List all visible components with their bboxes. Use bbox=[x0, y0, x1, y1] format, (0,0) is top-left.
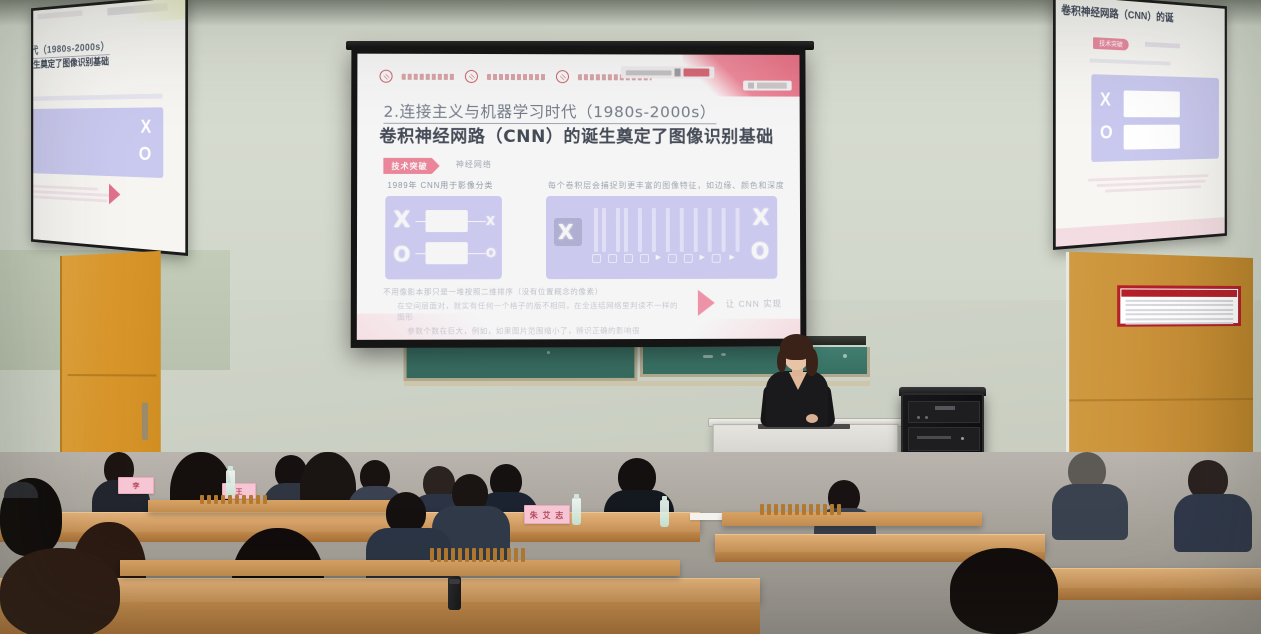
side-screen-right: 卷积神经网路（CNN）的诞 技术突破 X O X bbox=[1053, 0, 1227, 250]
rack-unit-amplifier bbox=[908, 401, 980, 423]
university-name-1 bbox=[402, 73, 456, 79]
slide-tech-chip-label: 神经网络 bbox=[456, 159, 492, 170]
thermos-flask bbox=[448, 576, 461, 610]
bench-slats-right-1 bbox=[760, 504, 841, 515]
side-right-panel-right: X bbox=[1225, 78, 1227, 158]
slide-caption-right: 每个卷积层会捕捉到更丰富的图像特征，如边缘、颜色和深度 bbox=[548, 180, 785, 191]
schedule-poster bbox=[1117, 285, 1241, 327]
symbol-x-output: X bbox=[752, 206, 769, 231]
cap-icon bbox=[4, 482, 38, 498]
slide-logo-row bbox=[380, 70, 652, 84]
slide-diagram-panel-right: X ► ► bbox=[546, 196, 777, 279]
bench-row-front bbox=[120, 560, 680, 576]
slide-diagram-panel-left: X O X O bbox=[385, 196, 502, 279]
slide-corner-accent-bottom-right bbox=[681, 319, 800, 339]
water-bottle-1 bbox=[226, 470, 235, 497]
slide-title-line1: 2.连接主义与机器学习时代（1980s-2000s） bbox=[383, 100, 715, 125]
presentation-slide: 2.连接主义与机器学习时代（1980s-2000s） 卷积神经网路（CNN）的诞… bbox=[357, 54, 801, 340]
slide-bullet-block: 不用像影本那只是一堆按照二维排序（没有位置概念的像素） 在空间层面对，就实有任何… bbox=[383, 286, 684, 337]
slide-caption-left: 1989年 CNN用于影像分类 bbox=[387, 180, 493, 191]
symbol-o-output: O bbox=[751, 240, 770, 265]
slide-badge-top-right bbox=[621, 66, 715, 78]
chalkboard-panel-2 bbox=[640, 347, 870, 377]
door-handle-left[interactable] bbox=[142, 402, 148, 440]
name-card-1: 李 bbox=[118, 477, 154, 494]
side-screen-left: 代（1980s-2000s） 诞生奠定了图像识别基础 X O bbox=[31, 0, 188, 256]
university-name-2 bbox=[487, 73, 547, 79]
slide-badge-top-right-2 bbox=[743, 81, 792, 91]
water-bottle-3 bbox=[660, 500, 669, 527]
projection-screen: 2.连接主义与机器学习时代（1980s-2000s） 卷积神经网路（CNN）的诞… bbox=[351, 47, 807, 348]
slide-arrow-caption: 让 CNN 实现 bbox=[726, 298, 782, 310]
name-card-3: 朱 艾 志 bbox=[524, 505, 570, 524]
symbol-o-left: O bbox=[393, 242, 410, 266]
classroom-door-left[interactable] bbox=[60, 251, 161, 476]
cnn-input-image: X bbox=[554, 218, 582, 246]
rack-unit-2 bbox=[908, 427, 980, 451]
symbol-x-left: X bbox=[393, 208, 410, 233]
slide-bullet-lead: 不用像影本那只是一堆按照二维排序（没有位置概念的像素） bbox=[383, 286, 684, 298]
side-right-title: 卷积神经网路（CNN）的诞 bbox=[1061, 2, 1173, 25]
bench-row-1a bbox=[148, 500, 398, 512]
diagram-box-1 bbox=[426, 210, 468, 232]
paper-1 bbox=[690, 513, 724, 520]
university-seal-3-icon bbox=[556, 70, 569, 83]
side-left-diagram-panel: X O bbox=[31, 107, 163, 178]
university-seal-1-icon bbox=[380, 70, 393, 83]
slide-title-line2: 卷积神经网路（CNN）的诞生奠定了图像识别基础 bbox=[379, 122, 773, 147]
side-right-panel-left: X O bbox=[1091, 74, 1219, 162]
diagram-box-2 bbox=[425, 242, 467, 264]
lecture-hall-scene: 代（1980s-2000s） 诞生奠定了图像识别基础 X O 卷积神经网路（CN… bbox=[0, 0, 1261, 634]
water-bottle-2 bbox=[572, 498, 581, 525]
side-right-chip: 技术突破 bbox=[1093, 37, 1129, 50]
poster-header bbox=[1121, 289, 1237, 297]
bench-slats-1 bbox=[200, 494, 267, 504]
slide-bullet-1: 在空间层面对，就实有任何一个格子的版不相同，在全连结网络里判读不一样的图形 bbox=[383, 300, 684, 323]
slide-arrow-icon bbox=[698, 290, 715, 316]
slide-bullet-2: 参数个数在巨大，例如，如果图片范围缩小了，辨识正确的影响很 bbox=[383, 325, 684, 337]
university-seal-2-icon bbox=[465, 70, 478, 83]
chalkboard-panel-1 bbox=[404, 345, 638, 381]
bench-slats-front bbox=[430, 548, 525, 562]
slide-tech-chip: 技术突破 bbox=[383, 158, 439, 174]
side-left-title2: 诞生奠定了图像识别基础 bbox=[31, 53, 109, 71]
